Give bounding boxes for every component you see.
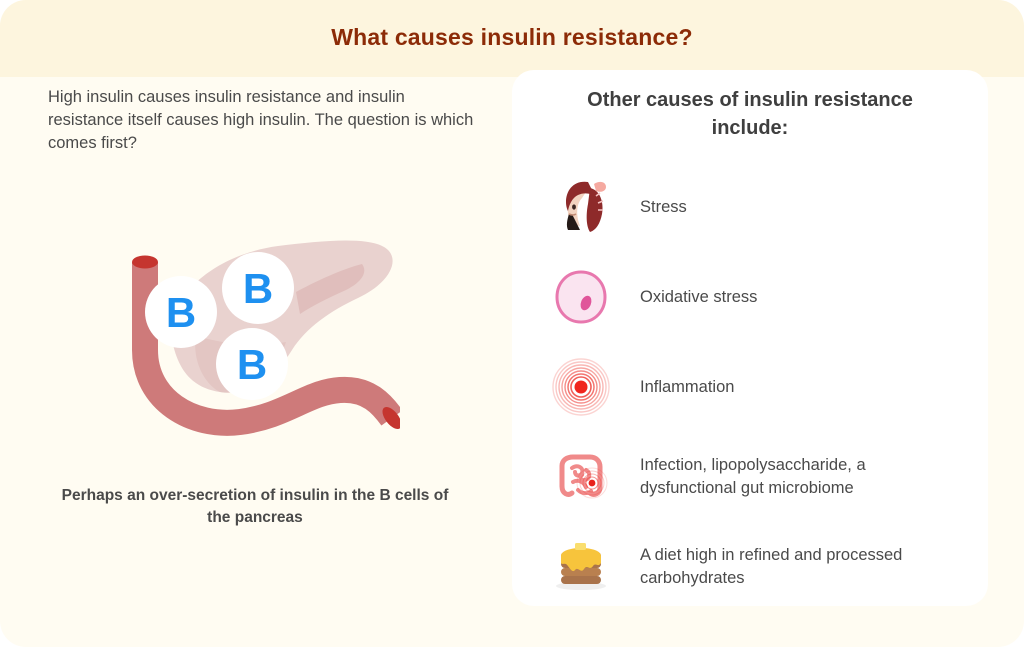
cause-item-label: Oxidative stress (640, 286, 958, 309)
cause-item-inflammation: Inflammation (512, 342, 988, 432)
cause-item-label: Inflammation (640, 376, 958, 399)
pancakes-icon (550, 536, 612, 598)
cause-item-oxidative-stress: Oxidative stress (512, 252, 988, 342)
inflammation-rings-icon (550, 356, 612, 418)
stressed-woman-icon (550, 176, 612, 238)
beta-cell-circle-1: B (145, 276, 217, 348)
cause-item-label: A diet high in refined and processed car… (640, 544, 958, 590)
svg-text:B: B (166, 289, 196, 336)
page-title: What causes insulin resistance? (0, 24, 1024, 51)
cause-item-refined-carbohydrates: A diet high in refined and processed car… (512, 522, 988, 612)
svg-text:B: B (237, 341, 267, 388)
infographic-page: What causes insulin resistance? High ins… (0, 0, 1024, 647)
pancreas-caption: Perhaps an over-secretion of insulin in … (60, 485, 450, 529)
svg-text:B: B (243, 265, 273, 312)
cause-item-gut-microbiome: Infection, lipopolysaccharide, a dysfunc… (512, 432, 988, 522)
beta-cell-circle-2: B (222, 252, 294, 324)
other-causes-card: Other causes of insulin resistance inclu… (512, 70, 988, 606)
cause-item-stress: Stress (512, 162, 988, 252)
cell-oxidative-stress-icon (550, 266, 612, 328)
intro-paragraph: High insulin causes insulin resistance a… (48, 86, 480, 155)
left-column: High insulin causes insulin resistance a… (0, 77, 512, 647)
other-causes-list: Stress Oxidative stress (512, 162, 988, 612)
intestine-gut-icon (550, 446, 612, 508)
cause-item-label: Stress (640, 196, 958, 219)
beta-cell-circle-3: B (216, 328, 288, 400)
cause-item-label: Infection, lipopolysaccharide, a dysfunc… (640, 454, 958, 500)
other-causes-heading: Other causes of insulin resistance inclu… (572, 86, 928, 142)
pancreas-illustration: B B B (100, 232, 400, 452)
